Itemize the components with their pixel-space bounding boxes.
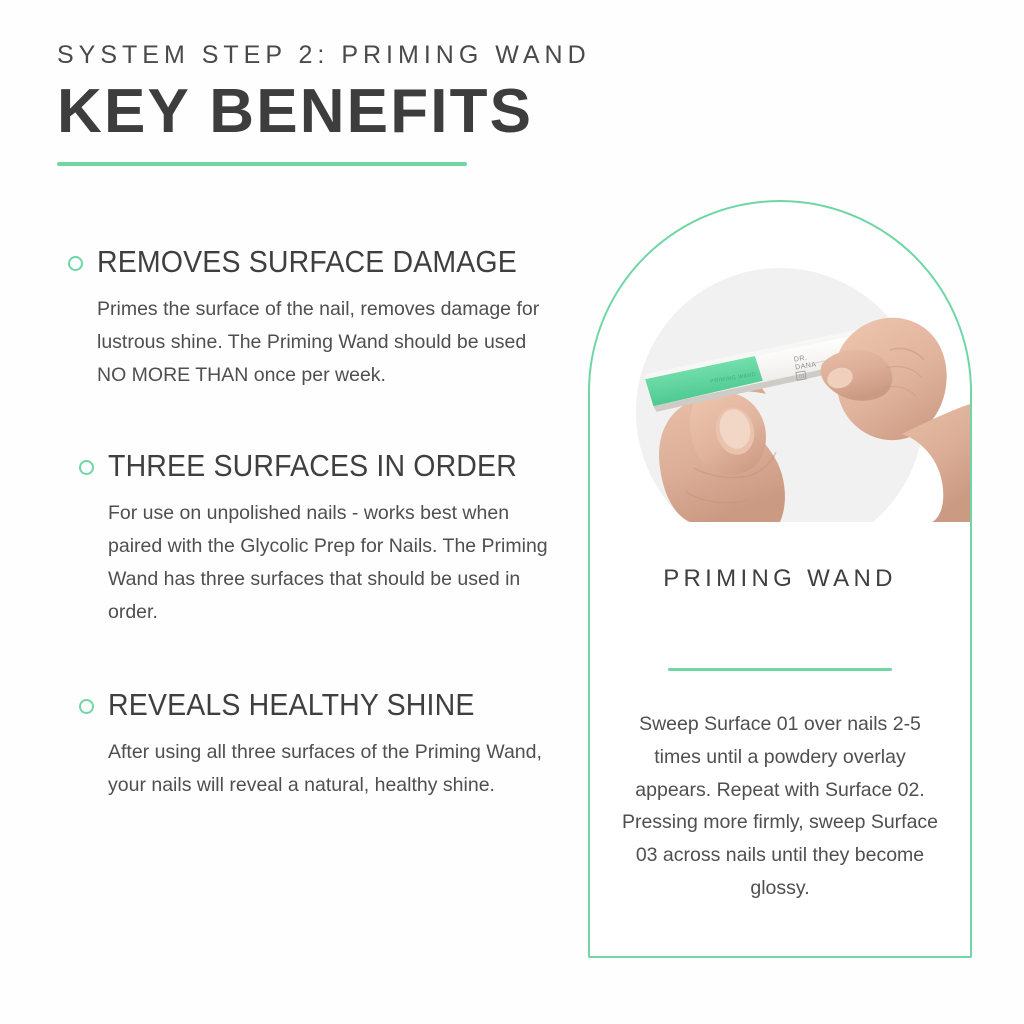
page-title: KEY BENEFITS	[57, 79, 591, 144]
benefit-heading-row: REVEALS HEALTHY SHINE	[11, 687, 575, 723]
card-divider-rule	[668, 668, 892, 671]
product-name: PRIMING WAND	[590, 562, 970, 596]
product-instructions: Sweep Surface 01 over nails 2-5 times un…	[614, 708, 946, 905]
hands-holding-nail-file-illustration: DR. DANA 01 PRIMING WAND	[590, 254, 970, 522]
page-header: SYSTEM STEP 2: PRIMING WAND KEY BENEFITS	[57, 42, 591, 166]
circle-outline-icon	[79, 699, 94, 714]
benefit-heading: REVEALS HEALTHY SHINE	[108, 687, 538, 723]
circle-outline-icon	[79, 460, 94, 475]
benefit-item: REVEALS HEALTHY SHINE After using all th…	[11, 687, 575, 802]
benefit-description: For use on unpolished nails - works best…	[108, 497, 556, 630]
benefit-heading: THREE SURFACES IN ORDER	[108, 448, 538, 484]
benefit-description: Primes the surface of the nail, removes …	[97, 293, 547, 392]
benefit-item: REMOVES SURFACE DAMAGE Primes the surfac…	[0, 244, 575, 392]
benefit-heading-row: REMOVES SURFACE DAMAGE	[0, 244, 575, 280]
benefit-description: After using all three surfaces of the Pr…	[108, 736, 556, 802]
benefits-list: REMOVES SURFACE DAMAGE Primes the surfac…	[0, 244, 575, 802]
product-arch-card: DR. DANA 01 PRIMING WAND	[588, 200, 972, 958]
benefit-item: THREE SURFACES IN ORDER For use on unpol…	[11, 448, 575, 629]
eyebrow-step-label: SYSTEM STEP 2: PRIMING WAND	[57, 42, 591, 70]
key-benefits-page: SYSTEM STEP 2: PRIMING WAND KEY BENEFITS…	[0, 0, 1024, 1024]
product-photo: DR. DANA 01 PRIMING WAND	[590, 254, 970, 522]
title-underline-rule	[57, 162, 467, 166]
benefit-heading: REMOVES SURFACE DAMAGE	[97, 244, 537, 280]
benefit-heading-row: THREE SURFACES IN ORDER	[11, 448, 575, 484]
circle-outline-icon	[68, 256, 83, 271]
